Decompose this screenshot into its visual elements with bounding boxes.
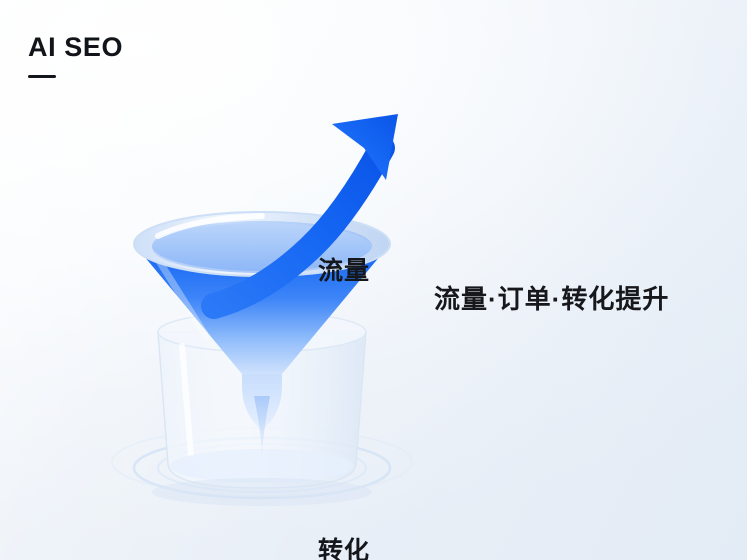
beaker-shadow bbox=[152, 478, 372, 506]
label-conversion: 转化 bbox=[318, 531, 370, 560]
slide-canvas: AI SEO 流量·订单·转化提升 bbox=[0, 0, 747, 560]
title-underline-rule bbox=[28, 75, 56, 78]
funnel-svg bbox=[96, 96, 456, 516]
tagline-text: 流量·订单·转化提升 bbox=[434, 279, 669, 316]
page-title: AI SEO bbox=[28, 34, 123, 61]
funnel-illustration: 流量 转化 bbox=[96, 96, 456, 516]
title-block: AI SEO bbox=[28, 34, 123, 78]
label-traffic: 流量 bbox=[318, 251, 370, 287]
